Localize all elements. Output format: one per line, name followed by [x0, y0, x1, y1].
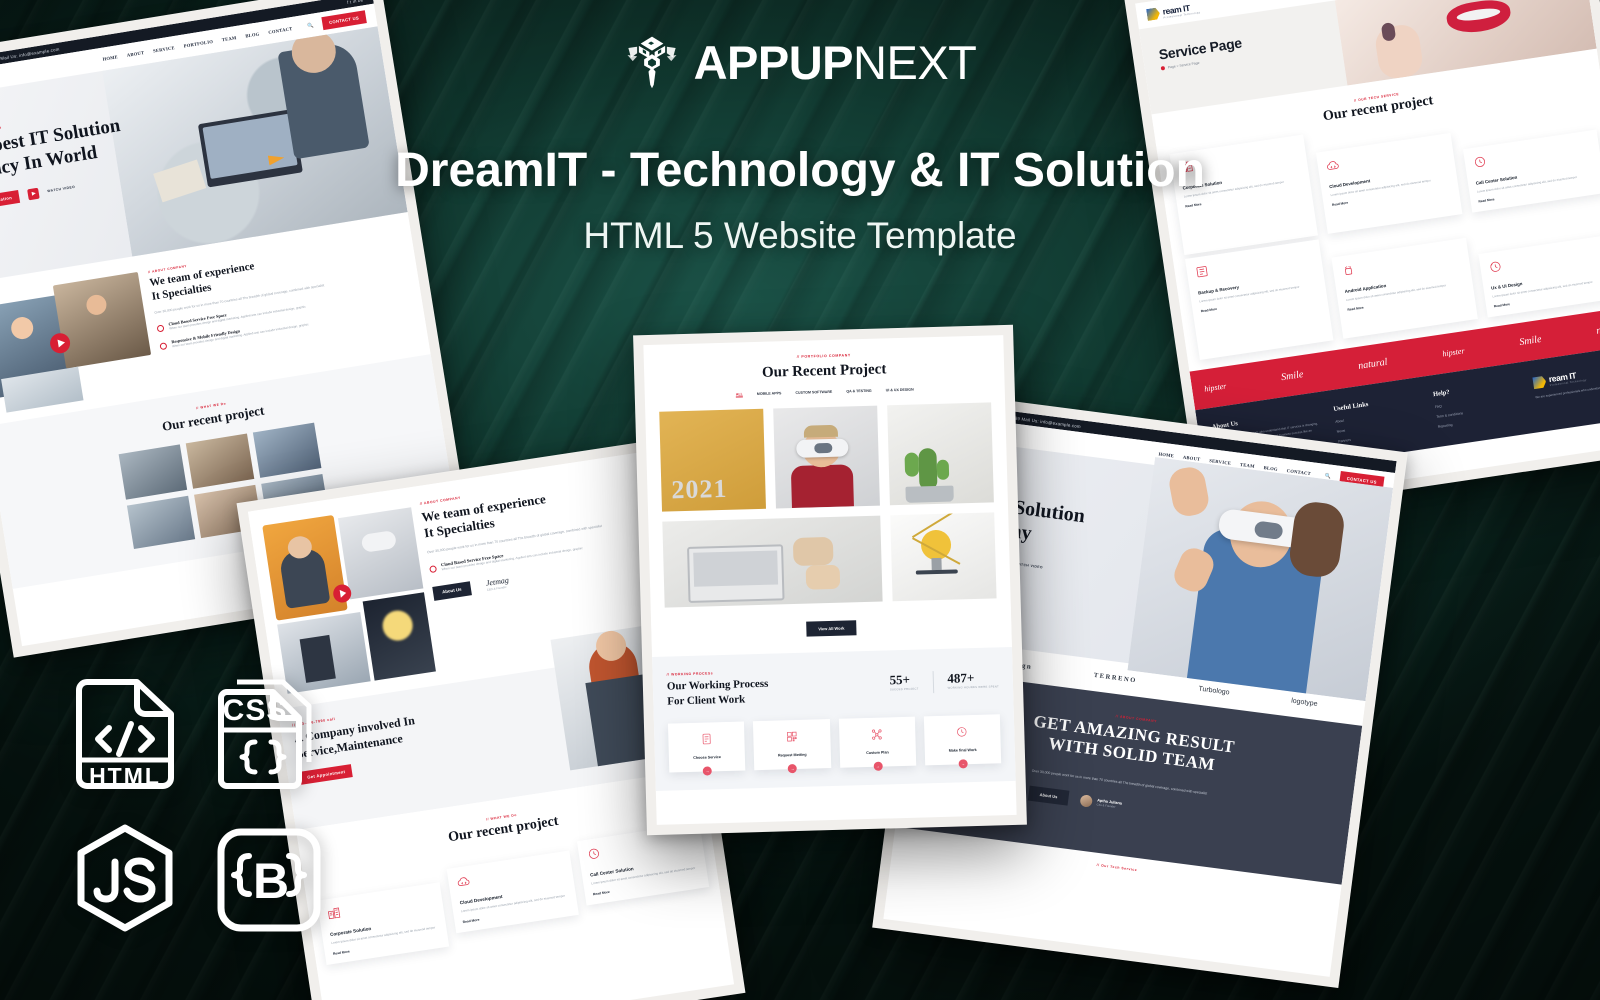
stat-label: WORKING HOURES WERE SPENT [948, 685, 999, 689]
footer-logo-block: ream IT Professional Technology We are e… [1532, 362, 1600, 414]
brand-logo-hipster-2: hipster [1442, 346, 1465, 358]
portfolio-item-2021[interactable]: 2021 [659, 409, 766, 512]
logo-text-light: NEXT [853, 36, 976, 89]
brand-logo-smile-2: Smile [1519, 334, 1543, 348]
project-thumb[interactable] [253, 423, 322, 478]
call-center-icon [586, 846, 602, 862]
bullet-icon [159, 342, 167, 350]
tech-badges: HTML CSS [66, 672, 328, 942]
step-title: Choose Service [673, 754, 741, 760]
process-step[interactable]: Custom Plan → [838, 716, 916, 767]
brand-logo-hipster: hipster [1204, 382, 1227, 394]
person-info: Aptha Juliana Ceo & Founder [1079, 794, 1122, 811]
shield-cube-logo-icon [624, 34, 680, 90]
step-title: Make final Work [929, 747, 997, 753]
portfolio-grid: 2021 [645, 390, 1011, 608]
css-badge: CSS [210, 672, 328, 796]
bootstrap-b-label: B [253, 853, 289, 909]
client-logo-logotype: logotype [1291, 697, 1318, 707]
view-all-work-button[interactable]: View All Work [806, 620, 857, 636]
ux-ui-design-icon [1487, 259, 1503, 275]
filter-all[interactable]: ALL [736, 392, 743, 397]
choose-service-icon [700, 732, 713, 745]
poster-stage: Call Us: +1 800 123 456 789 Mail Us: inf… [0, 0, 1600, 1000]
service-card[interactable]: Cloud Development Lorem ipsum dolor sit … [447, 850, 579, 933]
process-step[interactable]: Request Metting → [753, 719, 831, 770]
stat-succed-project: 55+ SUCCED PROJECT [889, 672, 918, 692]
bullet-icon [429, 566, 437, 574]
final-work-icon [955, 725, 968, 738]
filter-custom-software[interactable]: CUSTOM SOFTWARE [795, 390, 832, 396]
project-thumb[interactable] [127, 496, 195, 549]
android-application-icon [1341, 262, 1357, 278]
portfolio-item-vr[interactable] [773, 406, 880, 509]
bootstrap-icon: B [213, 824, 325, 936]
arrow-icon: → [788, 764, 797, 773]
poster-header: APPUPNEXT DreamIT - Technology & IT Solu… [0, 34, 1600, 258]
js-badge [66, 818, 184, 942]
portfolio-heading: Our Recent Project [658, 358, 990, 384]
brand-logo-natural-2: natural [1596, 322, 1600, 337]
html-file-icon: HTML [73, 676, 177, 792]
footer-help: Help? FAQ Term & conditions Reporting [1433, 378, 1526, 429]
client-logo-terreno: TERRENO [1093, 671, 1137, 684]
social-icons[interactable]: f t in be [347, 0, 364, 4]
dream-d-icon [1532, 375, 1547, 389]
footer-useful-links: Useful Links About News Partners [1333, 393, 1426, 444]
html-label: HTML [89, 763, 161, 789]
portfolio-item-bulb[interactable] [890, 512, 996, 601]
page-title: DreamIT - Technology & IT Solution [0, 144, 1600, 198]
nodejs-hexagon-icon [71, 822, 179, 938]
bullet-icon [157, 325, 165, 333]
logo-text-bold: APPUP [694, 36, 853, 89]
process-steps: Choose Service → Request Metting → [668, 714, 1001, 772]
about-us-button[interactable]: About Us [1028, 786, 1069, 806]
appupnext-logo: APPUPNEXT [0, 34, 1600, 90]
css-label: CSS [223, 694, 288, 727]
corporate-solution-icon [326, 905, 342, 921]
cloud-development-icon [456, 874, 472, 890]
arrow-icon: → [958, 759, 967, 768]
brand-logo[interactable]: ream IT Professional Technology [1146, 1, 1201, 22]
dream-d-icon [1146, 7, 1161, 21]
project-thumb[interactable] [119, 444, 188, 499]
process-step[interactable]: Choose Service → [668, 721, 746, 772]
request-meeting-icon [785, 730, 798, 743]
filter-ui-ux-design[interactable]: UI & UX DESIGN [886, 388, 914, 394]
page-subtitle: HTML 5 Website Template [0, 214, 1600, 258]
contact-us-button[interactable]: CONTACT US [321, 10, 367, 30]
stat-value: 55+ [889, 672, 918, 689]
about-images [0, 272, 157, 414]
arrow-icon: → [703, 766, 712, 775]
filter-qa-testing[interactable]: QA & TESTING [846, 389, 872, 395]
service-card[interactable]: Corporate Solution Lorem ipsum dolor sit… [317, 882, 449, 965]
appupnext-wordmark: APPUPNEXT [694, 39, 977, 86]
stat-value: 487+ [947, 669, 999, 686]
search-icon[interactable]: 🔍 [307, 22, 314, 29]
footer-brand-logo[interactable]: ream IT Professional Technology [1532, 362, 1600, 389]
backup-recovery-icon [1194, 264, 1210, 280]
portfolio-header: // PORTFOLIO COMPANY Our Recent Project … [643, 335, 1004, 400]
brand-logo-natural: natural [1357, 357, 1388, 372]
step-title: Request Metting [758, 752, 826, 758]
portfolio-item-cactus[interactable] [887, 402, 994, 505]
arrow-icon: → [873, 761, 882, 770]
filter-mobile-apps[interactable]: MOBILE APPS [757, 391, 782, 397]
mockup-portfolio-page[interactable]: // PORTFOLIO COMPANY Our Recent Project … [633, 325, 1027, 835]
stat-working-hours: 487+ WORKING HOURES WERE SPENT [947, 669, 999, 689]
css-file-icon: CSS [215, 676, 323, 792]
hero-image-vr [1127, 457, 1393, 701]
custom-plan-icon [870, 727, 883, 740]
process-step[interactable]: Make final Work → [924, 714, 1002, 765]
client-logo-turbologo: Turbologo [1198, 685, 1230, 696]
html-badge: HTML [66, 672, 184, 796]
brand-logo-smile: Smile [1280, 369, 1304, 383]
about-us-button[interactable]: About Us [432, 581, 471, 600]
working-process-stats: 55+ SUCCED PROJECT 487+ WORKING HOURES W… [889, 663, 999, 694]
working-process-section: // WORKING PROCESs Our Working Process F… [652, 647, 1016, 791]
about-images [262, 503, 436, 694]
service-card[interactable]: Call Center Solution Lorem ipsum dolor s… [577, 823, 709, 906]
project-thumb[interactable] [186, 433, 255, 488]
portfolio-item-laptop[interactable] [662, 516, 882, 608]
avatar [1079, 794, 1092, 807]
step-title: Custom Plan [843, 749, 911, 755]
bootstrap-badge: B [210, 818, 328, 942]
stat-label: SUCCED PROJECT [890, 688, 919, 692]
